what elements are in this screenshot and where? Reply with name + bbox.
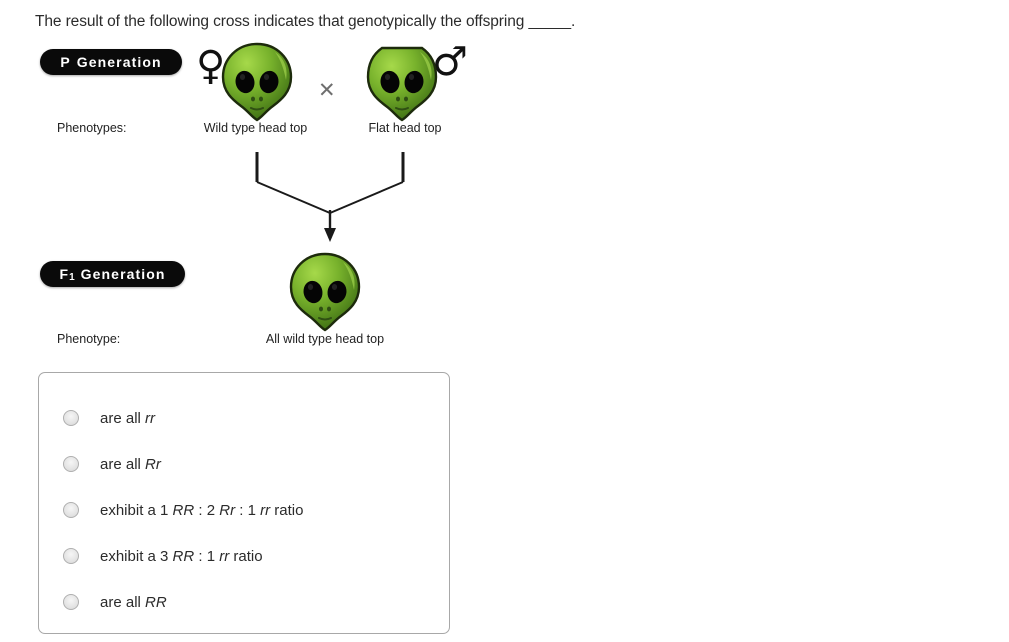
answer-radio-button[interactable] bbox=[63, 594, 79, 610]
answer-option-label: are all Rr bbox=[100, 456, 161, 473]
answer-option[interactable]: are all rr bbox=[39, 395, 449, 441]
answer-option-label: exhibit a 1 RR : 2 Rr : 1 rr ratio bbox=[100, 502, 303, 519]
f1-phenotype-caption: All wild type head top bbox=[230, 332, 420, 346]
cross-connector-lines bbox=[240, 150, 420, 245]
alien-head-wild-type-female-icon bbox=[215, 40, 299, 124]
answer-option[interactable]: exhibit a 1 RR : 2 Rr : 1 rr ratio bbox=[39, 487, 449, 533]
p-phenotypes-row-label: Phenotypes: bbox=[57, 121, 127, 135]
answer-radio-button[interactable] bbox=[63, 502, 79, 518]
alien-head-flat-top-male-icon bbox=[360, 40, 444, 124]
p-female-phenotype-caption: Wild type head top bbox=[178, 121, 333, 135]
p-generation-badge: P Generation bbox=[40, 49, 182, 75]
cross-multiply-icon: ✕ bbox=[318, 80, 336, 101]
answer-radio-button[interactable] bbox=[63, 410, 79, 426]
f1-phenotype-row-label: Phenotype: bbox=[57, 332, 120, 346]
p-male-phenotype-caption: Flat head top bbox=[340, 121, 470, 135]
p-generation-prefix: P bbox=[60, 54, 70, 70]
p-generation-label: Generation bbox=[77, 54, 162, 70]
answer-radio-button[interactable] bbox=[63, 548, 79, 564]
f1-generation-prefix: F bbox=[59, 266, 69, 282]
answer-option[interactable]: exhibit a 3 RR : 1 rr ratio bbox=[39, 533, 449, 579]
answer-choices-panel: are all rrare all Rrexhibit a 1 RR : 2 R… bbox=[38, 372, 450, 634]
alien-head-wild-type-offspring-icon bbox=[283, 250, 367, 334]
answer-option-label: are all RR bbox=[100, 594, 167, 611]
f1-generation-badge: F1 Generation bbox=[40, 261, 185, 287]
question-prompt: The result of the following cross indica… bbox=[35, 13, 575, 31]
answer-option-label: exhibit a 3 RR : 1 rr ratio bbox=[100, 548, 263, 565]
answer-option[interactable]: are all Rr bbox=[39, 441, 449, 487]
answer-option[interactable]: are all RR bbox=[39, 579, 449, 625]
answer-radio-button[interactable] bbox=[63, 456, 79, 472]
f1-generation-label: Generation bbox=[81, 266, 166, 282]
answer-options-list: are all rrare all Rrexhibit a 1 RR : 2 R… bbox=[39, 373, 449, 625]
answer-option-label: are all rr bbox=[100, 410, 155, 427]
f1-generation-subscript: 1 bbox=[69, 272, 75, 283]
